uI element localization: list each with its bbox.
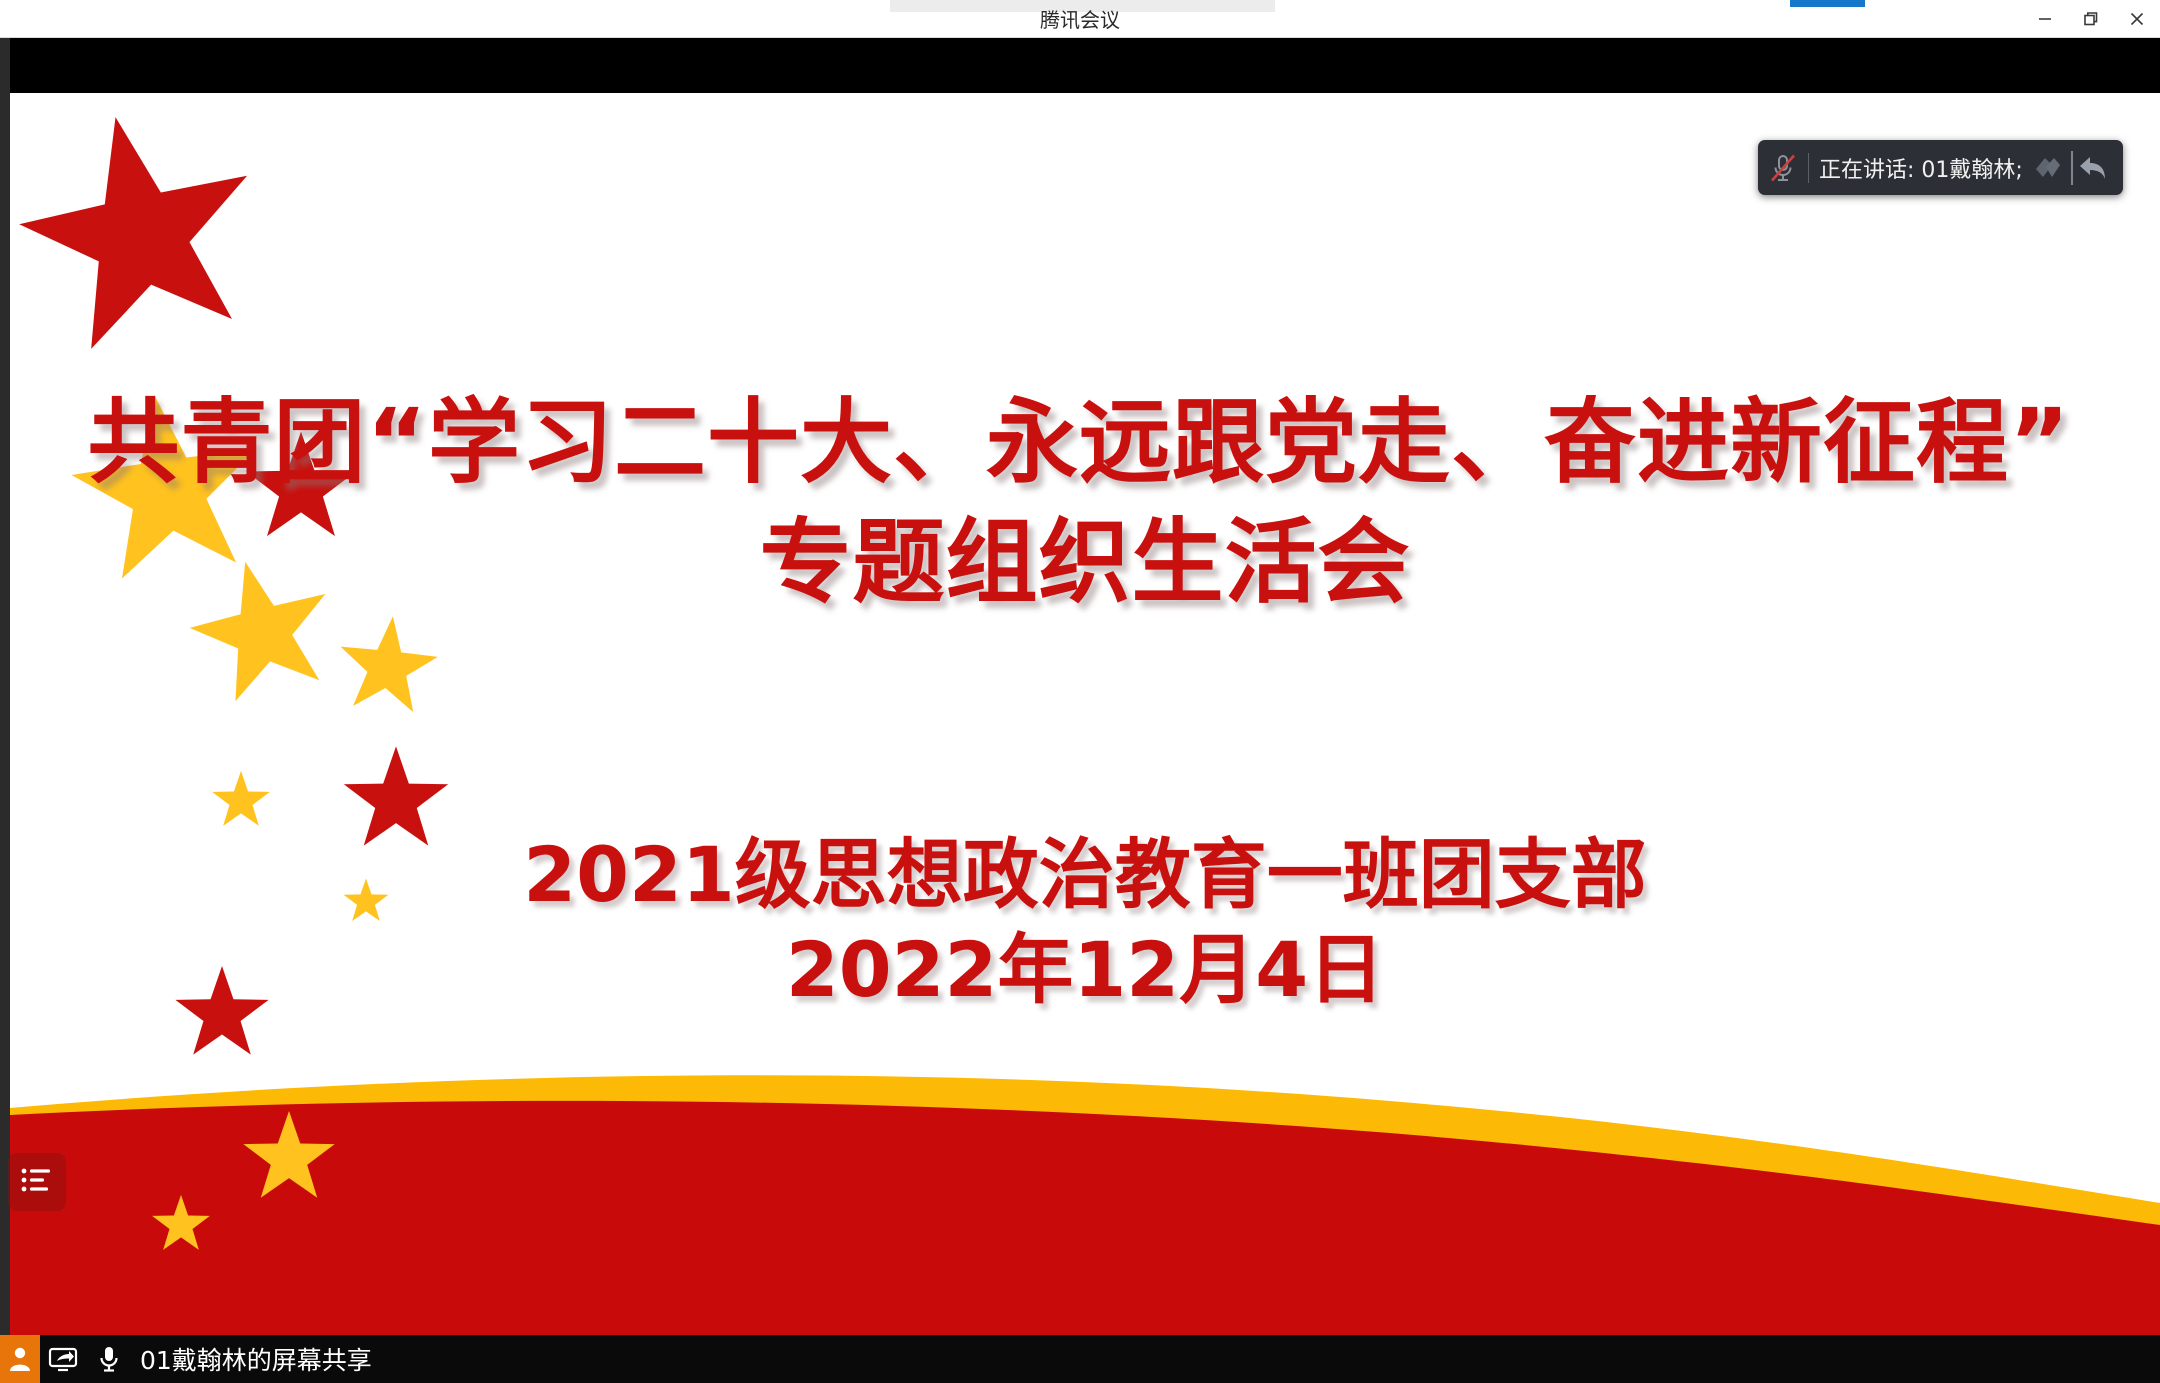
screen-share-status-text: 01戴翰林的屏幕共享 <box>140 1341 372 1377</box>
window-controls <box>2022 0 2160 38</box>
star-yellow-small-mid <box>335 613 440 718</box>
microphone-muted-icon[interactable] <box>1758 140 1808 195</box>
star-red-small-wave <box>172 963 272 1063</box>
active-speaker-label: 正在讲话: 01戴翰林; <box>1819 152 2031 184</box>
meeting-stage: 共青团“学习二十大、永远跟党走、奋进新征程” 专题组织生活会 2021级思想政治… <box>0 38 2160 1383</box>
slide-subtitle-line-2: 2022年12月4日 <box>10 908 2160 1018</box>
close-button[interactable] <box>2114 0 2160 38</box>
shared-slide: 共青团“学习二十大、永远跟党走、奋进新征程” 专题组织生活会 2021级思想政治… <box>10 93 2160 1343</box>
screen-share-icon[interactable] <box>40 1335 86 1383</box>
list-panel-icon <box>19 1165 55 1200</box>
slide-subtitle-line-1: 2021级思想政治教育一班团支部 <box>10 813 2160 923</box>
restore-button[interactable] <box>2068 0 2114 38</box>
star-yellow-small-on-red <box>150 1193 212 1255</box>
star-red-large-top-left <box>16 107 266 357</box>
return-arrow-icon[interactable] <box>2073 140 2113 195</box>
bottom-status-bar: 01戴翰林的屏幕共享 <box>0 1335 2160 1383</box>
microphone-icon[interactable] <box>86 1335 132 1383</box>
star-yellow-tiny-lower <box>210 769 272 831</box>
star-red-medium-lower <box>340 743 452 855</box>
window-title: 腾讯会议 <box>0 0 2160 38</box>
window-titlebar: 腾讯会议 <box>0 0 2160 38</box>
overlay-actions <box>2031 140 2123 195</box>
star-yellow-tiny-bottom <box>342 877 390 925</box>
active-speaker-overlay[interactable]: 正在讲话: 01戴翰林; <box>1758 140 2123 195</box>
overlay-divider <box>1808 153 1809 183</box>
participant-icon[interactable] <box>0 1335 40 1383</box>
star-red-medium-upper <box>242 428 360 546</box>
panel-toggle-button[interactable] <box>8 1153 66 1211</box>
star-yellow-on-red-band <box>240 1108 338 1206</box>
minimize-button[interactable] <box>2022 0 2068 38</box>
star-yellow-medium-mid <box>188 555 338 705</box>
collapse-icon[interactable] <box>2031 140 2071 195</box>
